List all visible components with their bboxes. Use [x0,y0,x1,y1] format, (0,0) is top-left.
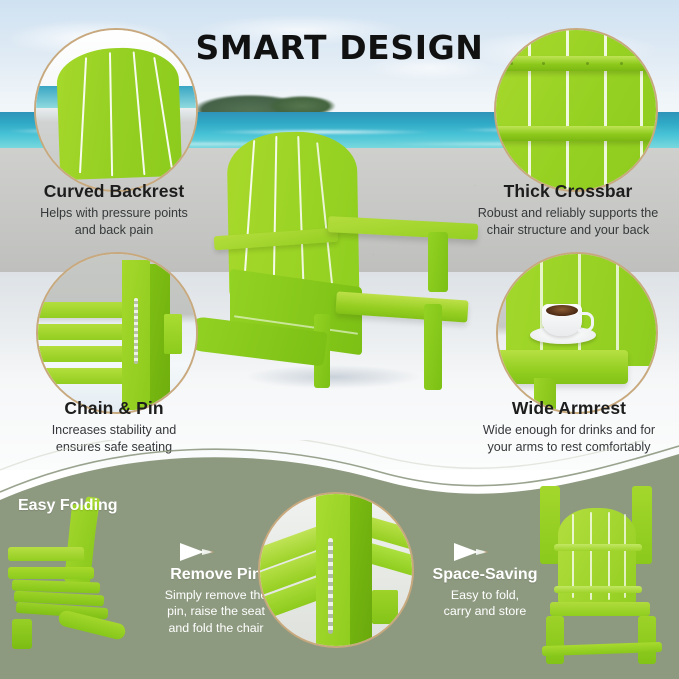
easy-folding-heading: Easy Folding [18,497,148,515]
seat-slat-1 [36,302,132,318]
folded-chair-front-view [528,486,678,664]
vertical-slat-4 [640,30,643,190]
feature-label-thick-crossbar: Thick Crossbar Robust and reliably suppo… [462,182,674,238]
seat-slat-2 [36,324,132,340]
callout-thick-crossbar [494,28,658,192]
feature-title: Curved Backrest [8,182,220,201]
vertical-slat-3 [616,252,619,366]
chair-arm-support-right [428,232,448,292]
vertical-slat-3 [604,30,607,190]
feature-desc-line2: chair structure and your back [462,222,674,239]
callout-2-crossbar-closeup [494,30,658,190]
screw-2 [542,62,545,65]
slat-line-3 [133,51,146,175]
vertical-slat-2 [566,30,569,190]
screw-1 [510,62,513,65]
callout-1-backrest-closeup [56,46,182,180]
feature-title: Wide Armrest [464,399,674,418]
callout-chain-and-pin [36,252,198,414]
armrest [8,547,84,561]
feature-title: Chain & Pin [10,399,218,418]
chain-icon [328,538,333,634]
slat-line-4 [153,57,172,168]
leg-right [638,616,656,664]
screw-4 [620,62,623,65]
pin-bracket [164,314,182,354]
product-infographic: SMART DESIGN Cu [0,0,679,679]
front-leg [12,619,32,649]
feature-desc-line1: Helps with pressure points [8,205,220,222]
vertical-slat-1 [528,30,531,190]
island-landmass-secondary [262,88,342,114]
folded-chair-side-view [6,495,156,645]
crossbar-lower [554,586,642,593]
seat-slat-a [8,567,94,579]
arm-upright-left [540,486,560,564]
feature-desc-line1: Wide enough for drinks and for [464,422,674,439]
section-heading: Easy Folding [18,497,148,515]
seat-slat-3 [36,346,132,362]
seat-slat-4 [36,368,126,384]
callout-chain-detail [258,492,414,648]
crossbar-upper [554,544,642,551]
callout-curved-backrest [34,28,198,192]
slat-line-1 [79,57,87,173]
crossbar-top [494,56,656,71]
slat-line-2 [109,52,113,176]
armrest-surface [496,350,628,384]
main-product-chair-image [190,128,490,428]
feature-desc-line1: Increases stability and [10,422,218,439]
feature-desc-line1: Robust and reliably supports the [462,205,674,222]
leg-left [546,616,564,664]
chair-post-side [350,492,372,648]
chair-shadow [208,360,458,394]
feature-title: Thick Crossbar [462,182,674,201]
crossbar-bottom [494,126,656,141]
feature-desc-line2: and back pain [8,222,220,239]
screw-3 [586,62,589,65]
chair-leg-front-right [424,304,442,390]
feature-label-curved-backrest: Curved Backrest Helps with pressure poin… [8,182,220,238]
arrow-right-icon-2 [448,540,490,564]
folded-seat-edge [550,602,650,616]
coffee-liquid [546,305,578,316]
chain-icon [134,298,138,364]
cup-handle [578,312,594,332]
callout-wide-armrest [496,252,658,414]
pin-bracket [372,590,398,624]
arrow-right-icon-1 [174,540,216,564]
chair-post [316,492,350,648]
